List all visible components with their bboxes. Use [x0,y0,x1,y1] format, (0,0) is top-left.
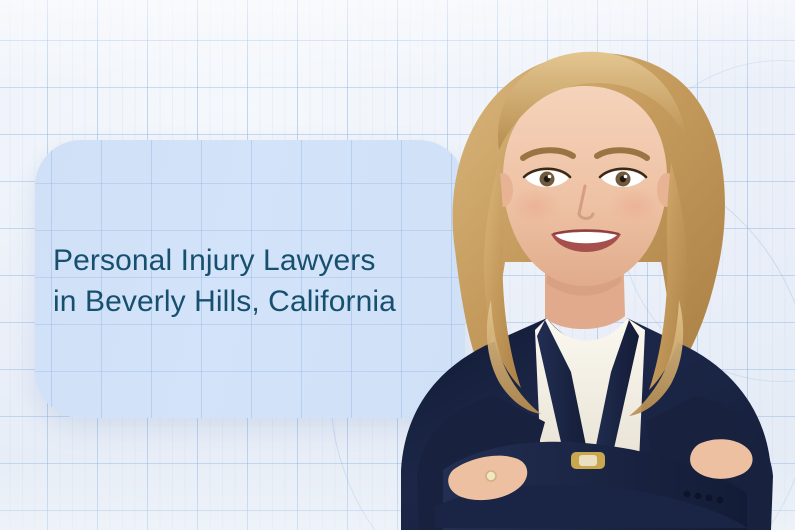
hand-left [690,439,752,479]
cheek-right [609,188,661,224]
watch-face [579,455,597,466]
cheek-left [509,188,561,224]
hero-photo [395,0,795,530]
woman-portrait-illustration [395,0,795,530]
page-title: Personal Injury Lawyers in Beverly Hills… [53,240,453,322]
hero-banner: Personal Injury Lawyers in Beverly Hills… [0,0,795,530]
ring [486,471,496,481]
